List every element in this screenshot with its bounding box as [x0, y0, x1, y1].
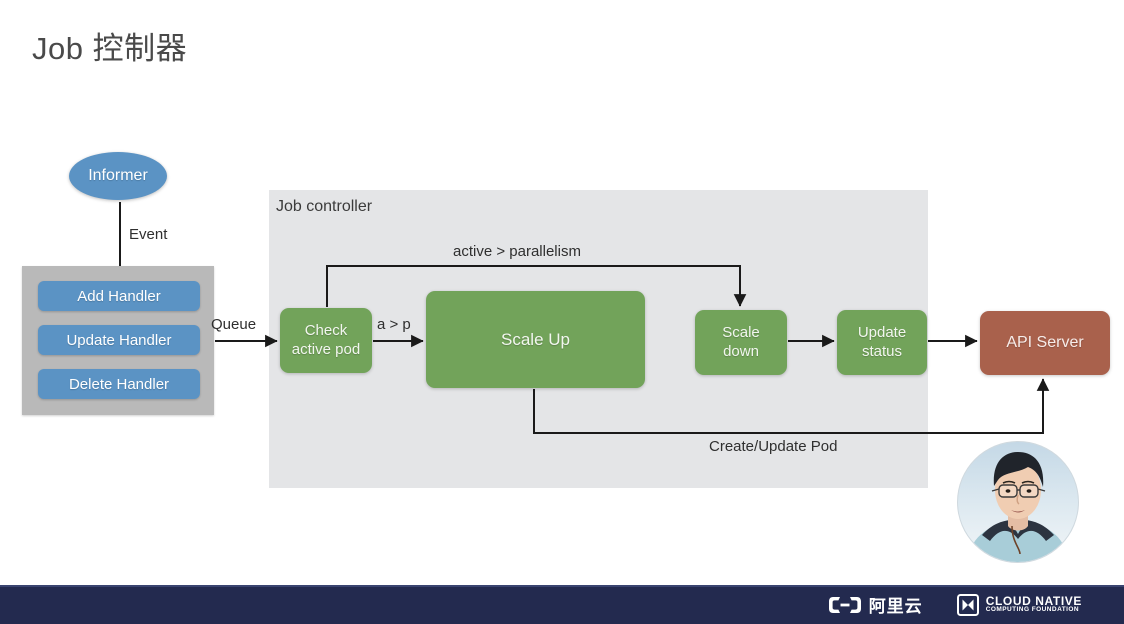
edge-label-create-update-pod: Create/Update Pod: [709, 438, 837, 455]
edge-label-a-greater-p: a > p: [377, 316, 411, 333]
api-server-node[interactable]: API Server: [980, 311, 1110, 375]
check-active-pod-label: Check active pod: [292, 322, 360, 360]
informer-node[interactable]: Informer: [69, 152, 167, 200]
delete-handler-box[interactable]: Delete Handler: [38, 369, 200, 399]
scale-up-label: Scale Up: [501, 329, 570, 350]
cncf-logo-line2: COMPUTING FOUNDATION: [986, 607, 1082, 614]
cncf-mark-icon: [957, 594, 979, 616]
edge-label-queue: Queue: [211, 316, 256, 333]
handler-group: Add Handler Update Handler Delete Handle…: [22, 266, 214, 415]
scale-up-node[interactable]: Scale Up: [426, 291, 645, 388]
job-controller-panel-label: Job controller: [276, 198, 372, 216]
scale-down-node[interactable]: Scale down: [695, 310, 787, 375]
delete-handler-label: Delete Handler: [69, 376, 169, 393]
update-status-label: Update status: [858, 324, 906, 362]
aliyun-mark-icon: [828, 595, 862, 615]
edge-label-active-greater-parallelism: active > parallelism: [453, 243, 581, 260]
presenter-video-circle: [958, 442, 1078, 562]
presenter-portrait-icon: [958, 442, 1078, 562]
scale-down-label: Scale down: [722, 324, 760, 362]
update-handler-label: Update Handler: [66, 332, 171, 349]
add-handler-box[interactable]: Add Handler: [38, 281, 200, 311]
footer-logos: 阿里云 CLOUD NATIVE COMPUTING FOUNDATION: [828, 592, 1082, 617]
update-handler-box[interactable]: Update Handler: [38, 325, 200, 355]
page-title: Job 控制器: [32, 23, 187, 68]
api-server-label: API Server: [1006, 334, 1083, 352]
check-active-pod-node[interactable]: Check active pod: [280, 308, 372, 373]
edge-label-event: Event: [129, 226, 167, 243]
aliyun-logo-text: 阿里云: [869, 592, 923, 617]
add-handler-label: Add Handler: [77, 288, 160, 305]
cncf-logo: CLOUD NATIVE COMPUTING FOUNDATION: [957, 594, 1082, 616]
update-status-node[interactable]: Update status: [837, 310, 927, 375]
slide-canvas: Job 控制器 Job controller Informer Add Hand…: [0, 0, 1124, 624]
aliyun-logo: 阿里云: [828, 592, 923, 617]
informer-label: Informer: [88, 167, 148, 185]
